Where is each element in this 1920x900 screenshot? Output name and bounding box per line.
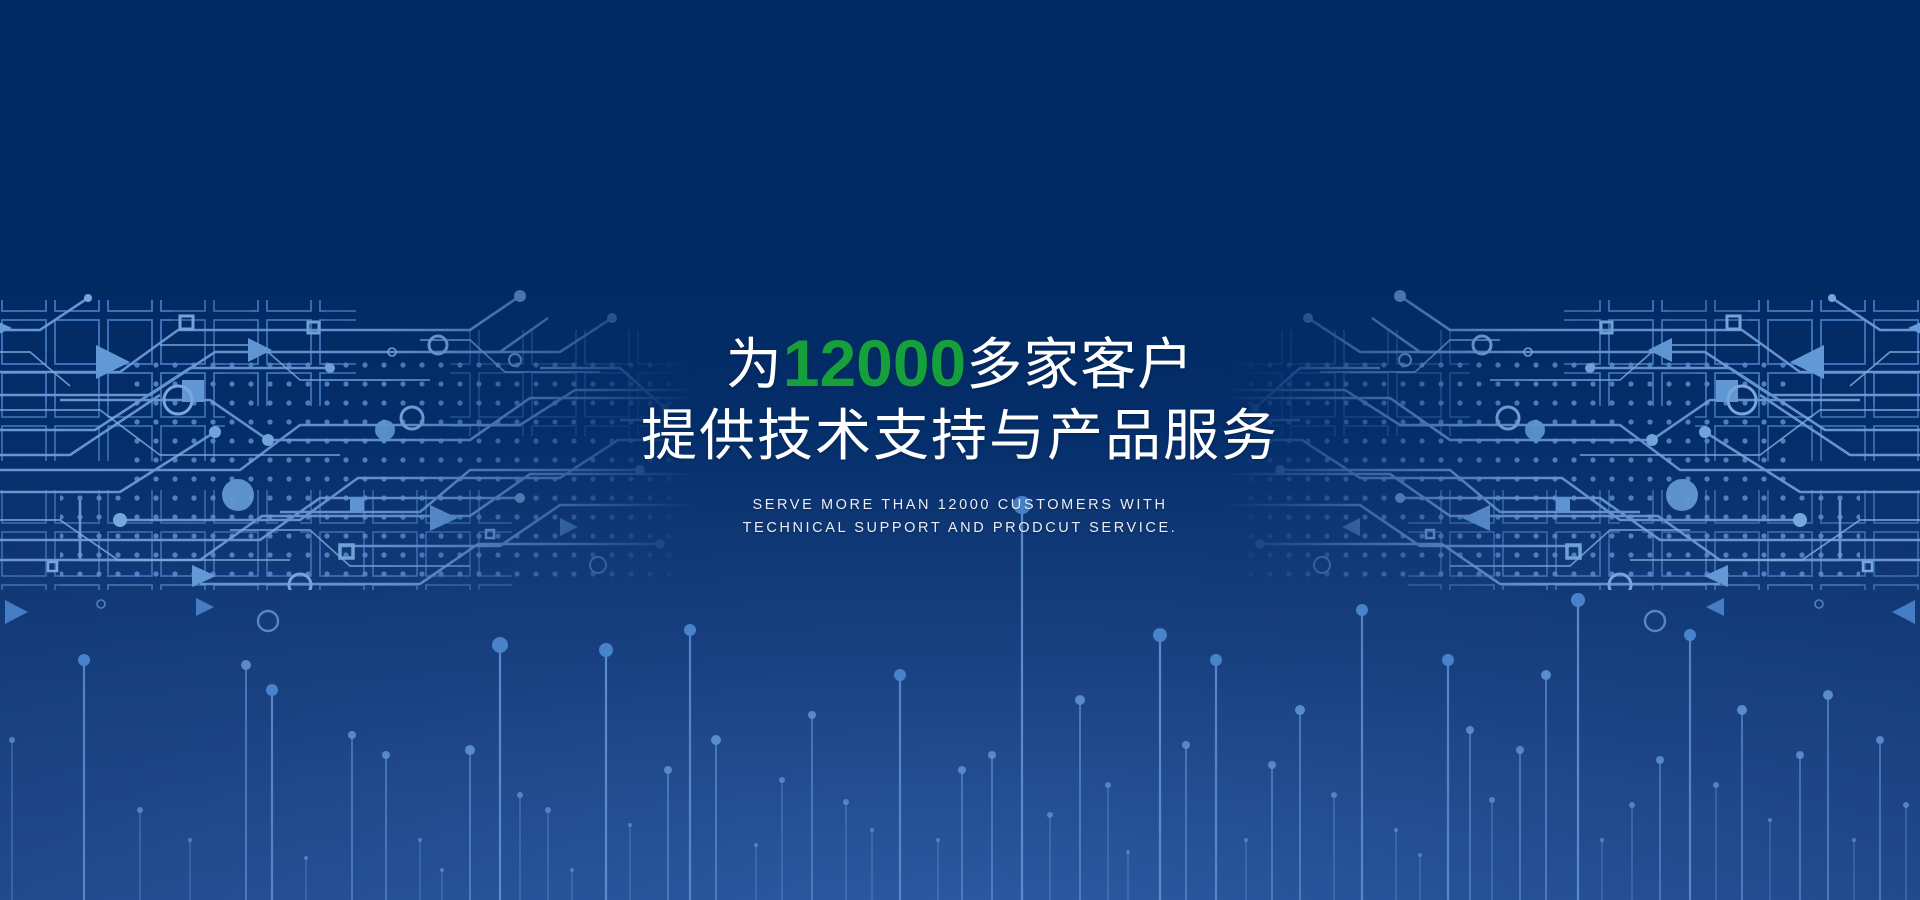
stem bbox=[1331, 792, 1337, 900]
stem bbox=[1153, 628, 1167, 900]
stem bbox=[188, 838, 192, 900]
subtitle-line-1: SERVE MORE THAN 12000 CUSTOMERS WITH bbox=[0, 494, 1920, 517]
stem bbox=[492, 637, 508, 900]
stem bbox=[1210, 654, 1222, 900]
stem bbox=[684, 624, 696, 900]
stem bbox=[1489, 797, 1495, 900]
stem bbox=[78, 654, 90, 900]
subtitle-line-2: TECHNICAL SUPPORT AND PRODCUT SERVICE. bbox=[0, 517, 1920, 540]
stem bbox=[843, 799, 849, 900]
stem bbox=[517, 792, 523, 900]
stem bbox=[440, 868, 444, 900]
stem bbox=[570, 868, 574, 900]
headline-suffix: 多家客户 bbox=[966, 333, 1194, 396]
stem bbox=[1268, 761, 1276, 900]
stem bbox=[1418, 853, 1422, 900]
stem bbox=[711, 735, 721, 900]
stem bbox=[1182, 741, 1190, 900]
stem bbox=[348, 731, 356, 900]
stem bbox=[1796, 751, 1804, 900]
stem bbox=[1541, 670, 1551, 900]
stem bbox=[1629, 802, 1635, 900]
stem bbox=[664, 766, 672, 900]
subtitle-block: SERVE MORE THAN 12000 CUSTOMERS WITH TEC… bbox=[0, 494, 1920, 541]
stem bbox=[1713, 782, 1719, 900]
stem bbox=[1126, 850, 1130, 900]
stem bbox=[465, 745, 475, 900]
stem bbox=[1075, 695, 1085, 900]
stem bbox=[894, 669, 906, 900]
stem bbox=[1244, 838, 1248, 900]
stem bbox=[1516, 746, 1524, 900]
stem bbox=[1737, 705, 1747, 900]
stem bbox=[9, 737, 15, 900]
stem bbox=[808, 711, 816, 900]
stem bbox=[1903, 802, 1909, 900]
stem bbox=[545, 807, 551, 900]
customer-count: 12000 bbox=[783, 326, 967, 400]
stem bbox=[1876, 736, 1884, 900]
stem bbox=[958, 766, 966, 900]
stem bbox=[1823, 690, 1833, 900]
stem bbox=[1442, 654, 1454, 900]
stem bbox=[137, 807, 143, 900]
stem bbox=[1013, 496, 1031, 900]
hero-text-block: 为12000多家客户 提供技术支持与产品服务 SERVE MORE THAN 1… bbox=[0, 330, 1920, 541]
stem bbox=[241, 660, 251, 900]
stem bbox=[599, 643, 613, 900]
stem bbox=[1600, 838, 1604, 900]
stem bbox=[1656, 756, 1664, 900]
headline-line-1: 为12000多家客户 bbox=[0, 330, 1920, 396]
stem bbox=[1295, 705, 1305, 900]
stem bbox=[382, 751, 390, 900]
stem bbox=[628, 823, 632, 900]
stem bbox=[1466, 726, 1474, 900]
headline-line-2: 提供技术支持与产品服务 bbox=[0, 408, 1920, 464]
stem bbox=[1105, 782, 1111, 900]
stem bbox=[1768, 818, 1772, 900]
stem bbox=[1356, 604, 1368, 900]
stem bbox=[418, 838, 422, 900]
stem bbox=[1684, 629, 1696, 900]
stem bbox=[779, 777, 785, 900]
hero-banner: 为12000多家客户 提供技术支持与产品服务 SERVE MORE THAN 1… bbox=[0, 0, 1920, 900]
stem bbox=[988, 751, 996, 900]
stem bbox=[1394, 828, 1398, 900]
stem bbox=[266, 684, 278, 900]
headline-prefix: 为 bbox=[726, 333, 783, 396]
stem bbox=[870, 828, 874, 900]
stem bbox=[936, 838, 940, 900]
stem bbox=[754, 843, 758, 900]
stem bbox=[1571, 593, 1585, 900]
stem bbox=[304, 856, 308, 900]
stem bbox=[1852, 838, 1856, 900]
stem bbox=[1047, 812, 1053, 900]
